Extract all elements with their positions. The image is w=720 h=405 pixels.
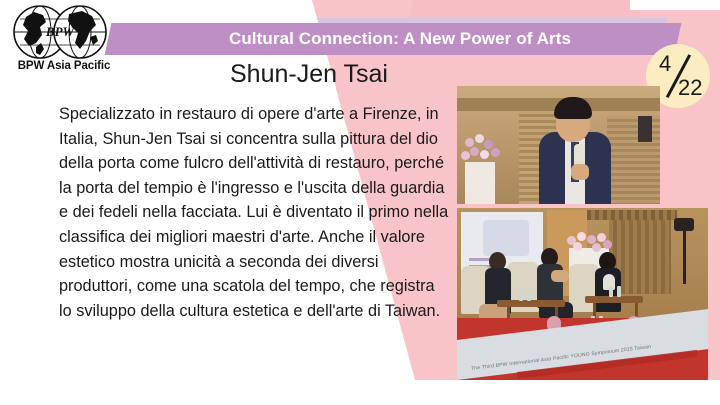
slide: Cultural Connection: A New Power of Arts… [0,0,720,405]
photo-screen-map [483,220,529,256]
bpw-logo: BPW BPW Asia Pacific [6,3,114,75]
background-white-topright [630,0,720,10]
photo-stage-flowers [565,232,613,252]
photo-side-table [585,296,643,303]
page-number-current: 4 [659,53,671,75]
speaker-with-microphone-photo [457,86,660,204]
photo-person-hand [571,164,589,180]
photo-top-beam [587,210,677,220]
speaker-name: Shun-Jen Tsai [230,60,388,89]
photo-person-hair [554,97,592,119]
photo-speaker-box-2 [674,218,694,231]
photo-pedestal [465,162,495,204]
photo-water-bottle [617,286,621,297]
bpw-logo-caption: BPW Asia Pacific [10,60,118,72]
panel-discussion-photo: The Third BPW International Asia Pacific… [457,208,708,380]
photo-side-table [497,300,565,307]
svg-text:BPW: BPW [45,24,76,39]
speaker-bio-text: Specializzato in restauro di opere d'art… [59,102,449,323]
background-white-bottom-strip [0,380,720,405]
photo-speaker-box [638,116,652,142]
slide-title: Cultural Connection: A New Power of Arts [150,25,650,53]
photo-wood-panel-2 [607,116,660,204]
page-number-total: 22 [678,77,702,99]
photo-water-bottle [609,286,613,297]
bpw-globes-icon: BPW [12,3,108,61]
photo-water-bottle [527,290,531,301]
photo-flower-arrangement [459,134,505,167]
photo-water-bottle [519,290,523,301]
